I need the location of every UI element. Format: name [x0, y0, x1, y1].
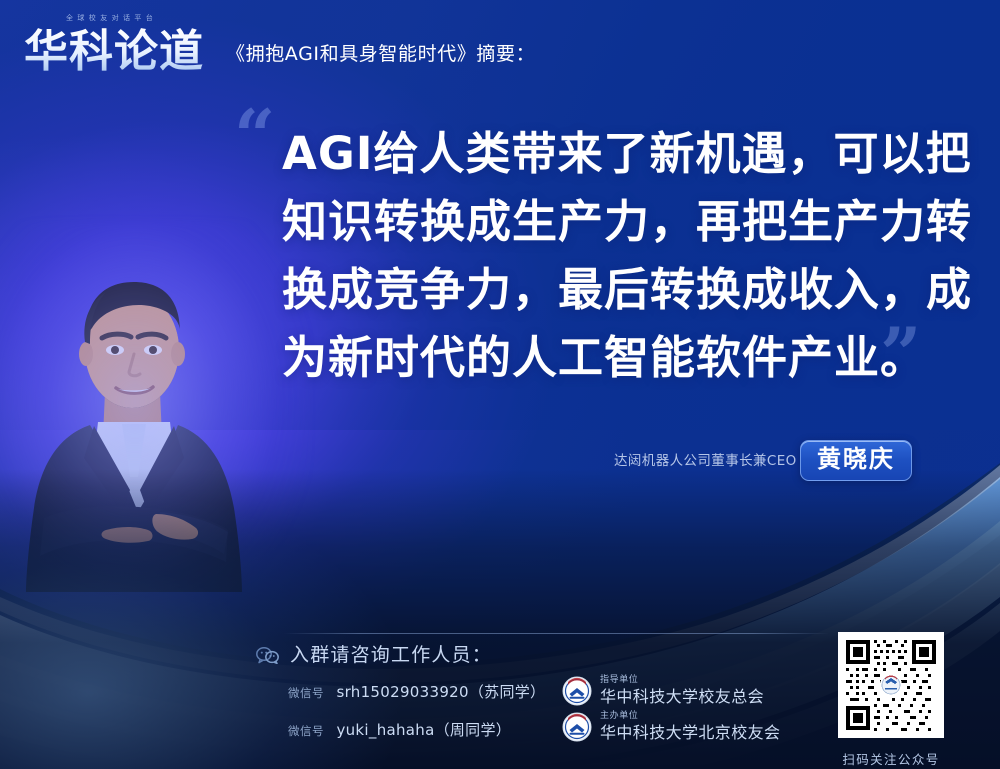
contact-label: 微信号 — [288, 686, 324, 700]
poster-header: 华科论道 全球校友对话平台 《拥抱AGI和具身智能时代》摘要： — [0, 0, 1000, 92]
organization-name: 华中科技大学校友总会 — [600, 683, 764, 707]
huake-lundao-logo-icon: 华科论道 — [24, 16, 220, 78]
qr-section: 扫码关注公众号 — [838, 632, 944, 768]
footer-heading: 入群请咨询工作人员： — [290, 640, 492, 667]
contact-row: 微信号 srh15029033920（苏同学） — [288, 681, 545, 702]
quote-line: 知识转换成生产力，再把生产力转 — [282, 188, 942, 256]
contact-value: yuki_hahaha（周同学） — [336, 721, 511, 739]
quote-line: 换成竞争力，最后转换成收入，成 — [282, 256, 942, 324]
qr-caption: 扫码关注公众号 — [838, 749, 944, 768]
speaker-role: 达闼机器人公司董事长兼CEO — [614, 449, 797, 469]
quote-line: 为新时代的人工智能软件产业。 — [282, 324, 942, 392]
quote-line: AGI给人类带来了新机遇，可以把 — [282, 120, 942, 188]
contact-label: 微信号 — [288, 724, 324, 738]
quote-close-mark: ” — [880, 318, 921, 390]
speaker-name-badge: 黄晓庆 — [800, 440, 912, 481]
svg-text:华科论道: 华科论道 — [24, 26, 204, 77]
quote-text: AGI给人类带来了新机遇，可以把 知识转换成生产力，再把生产力转 换成竞争力，最… — [282, 120, 942, 392]
brand-tagline: 全球校友对话平台 — [66, 13, 157, 23]
university-emblem-icon — [562, 676, 592, 706]
contact-row: 微信号 yuki_hahaha（周同学） — [288, 719, 511, 740]
qr-code-icon[interactable] — [838, 632, 944, 738]
wechat-icon — [256, 646, 280, 664]
footer-divider — [284, 633, 829, 634]
organization-name: 华中科技大学北京校友会 — [600, 719, 780, 743]
university-emblem-icon — [562, 712, 592, 742]
page-title: 《拥抱AGI和具身智能时代》摘要： — [226, 39, 535, 66]
poster-canvas: 华科论道 全球校友对话平台 《拥抱AGI和具身智能时代》摘要： “ AGI给人类… — [0, 0, 1000, 769]
brand-logo: 华科论道 — [24, 16, 220, 78]
contact-value: srh15029033920（苏同学） — [336, 683, 545, 701]
quote-open-mark: “ — [234, 100, 275, 172]
